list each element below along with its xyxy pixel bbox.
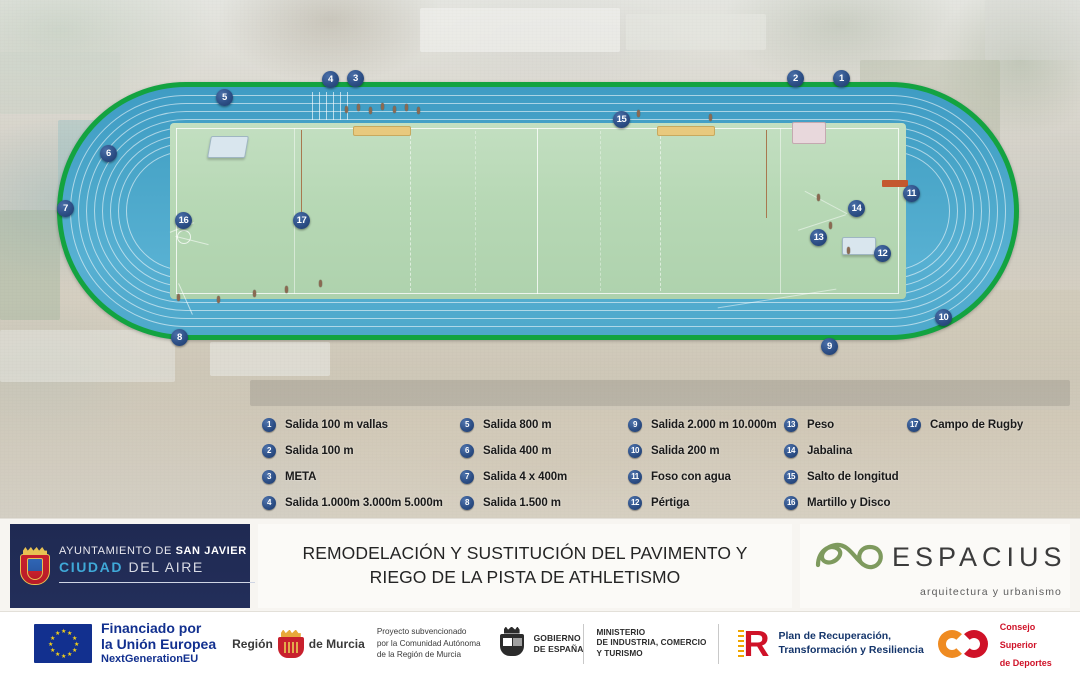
- legend-badge-8: 8: [460, 496, 474, 510]
- eu-flag-icon: ★ ★ ★ ★ ★ ★ ★ ★ ★ ★ ★ ★: [34, 624, 92, 663]
- legend-badge-7: 7: [460, 470, 474, 484]
- legend-badge-5: 5: [460, 418, 474, 432]
- legend-label-10: Salida 200 m: [651, 445, 719, 457]
- legend-item-17[interactable]: 17Campo de Rugby: [907, 412, 1023, 438]
- legend-badge-3: 3: [262, 470, 276, 484]
- legend-label-5: Salida 800 m: [483, 419, 551, 431]
- prtr-line-2: Transformación y Resiliencia: [778, 644, 923, 656]
- legend-column-3: 9Salida 2.000 m 10.000m10Salida 200 m11F…: [628, 412, 777, 516]
- aerial-photo-background: 1234567891011121314151617 1Salida 100 m …: [0, 0, 1080, 518]
- gobierno-espana-logo: GOBIERNO DE ESPAÑA: [495, 627, 584, 661]
- poster-root: 1234567891011121314151617 1Salida 100 m …: [0, 0, 1080, 675]
- photo-building: [985, 0, 1080, 60]
- murcia-shield-icon: [278, 630, 304, 658]
- map-marker-1[interactable]: 1: [833, 70, 850, 87]
- legend-badge-11: 11: [628, 470, 642, 484]
- subsidy-line-3: de la Región de Murcia: [377, 649, 481, 661]
- legend-label-4: Salida 1.000m 3.000m 5.000m: [285, 497, 443, 509]
- map-marker-2[interactable]: 2: [787, 70, 804, 87]
- athletics-track: [57, 82, 1019, 340]
- photo-building: [420, 8, 620, 52]
- equipment-mat-pole-vault: [792, 122, 826, 144]
- eu-line-3: NextGenerationEU: [101, 653, 216, 666]
- legend-label-17: Campo de Rugby: [930, 419, 1023, 431]
- legend-badge-4: 4: [262, 496, 276, 510]
- legend-item-4[interactable]: 4Salida 1.000m 3.000m 5.000m: [262, 490, 443, 516]
- legend-item-6[interactable]: 6Salida 400 m: [460, 438, 567, 464]
- ayuntamiento-line2: CIUDAD DEL AIRE: [59, 559, 269, 576]
- legend-badge-14: 14: [784, 444, 798, 458]
- equipment-long-jump-pit-2: [657, 126, 715, 136]
- rugby-pitch-infield: [170, 123, 906, 299]
- photo-road: [250, 380, 1070, 406]
- espacius-name: ESPACIUS: [892, 542, 1067, 573]
- legend-label-12: Pértiga: [651, 497, 689, 509]
- espacius-mark-icon: [814, 535, 888, 581]
- ayuntamiento-line1: AYUNTAMIENTO DE SAN JAVIER: [59, 545, 269, 558]
- subsidy-line-1: Proyecto subvencionado: [377, 626, 481, 638]
- legend-badge-12: 12: [628, 496, 642, 510]
- legend-badge-2: 2: [262, 444, 276, 458]
- legend-item-16[interactable]: 16Martillo y Disco: [784, 490, 899, 516]
- map-marker-11[interactable]: 11: [903, 185, 920, 202]
- legend-item-5[interactable]: 5Salida 800 m: [460, 412, 567, 438]
- photo-building: [210, 342, 330, 376]
- eu-funding-text: Financiado por la Unión Europea NextGene…: [101, 621, 216, 665]
- csd-mark-icon: [938, 624, 996, 664]
- legend-label-14: Jabalina: [807, 445, 852, 457]
- legend-label-2: Salida 100 m: [285, 445, 353, 457]
- legend-badge-9: 9: [628, 418, 642, 432]
- photo-building: [626, 14, 766, 50]
- legend-badge-1: 1: [262, 418, 276, 432]
- murcia-suffix: de Murcia: [309, 637, 365, 651]
- equipment-water-jump: [882, 180, 908, 187]
- ministerio-line-3: Y TURISMO: [596, 649, 706, 660]
- legend-label-6: Salida 400 m: [483, 445, 551, 457]
- legend-label-8: Salida 1.500 m: [483, 497, 561, 509]
- legend-item-9[interactable]: 9Salida 2.000 m 10.000m: [628, 412, 777, 438]
- equipment-mat-west: [207, 136, 249, 158]
- map-marker-8[interactable]: 8: [171, 329, 188, 346]
- gobierno-line-2: DE ESPAÑA: [534, 644, 584, 654]
- legend-item-7[interactable]: 7Salida 4 x 400m: [460, 464, 567, 490]
- gobierno-text: GOBIERNO DE ESPAÑA: [534, 633, 584, 654]
- legend-label-7: Salida 4 x 400m: [483, 471, 567, 483]
- subsidy-text: Proyecto subvencionado por la Comunidad …: [377, 626, 481, 661]
- legend-label-13: Peso: [807, 419, 834, 431]
- espacius-tagline: arquitectura y urbanismo: [814, 586, 1062, 598]
- gobierno-line-1: GOBIERNO: [534, 633, 581, 643]
- legend-badge-15: 15: [784, 470, 798, 484]
- ministerio-line-2: DE INDUSTRIA, COMERCIO: [596, 638, 706, 649]
- eu-line-1: Financiado por: [101, 620, 201, 636]
- prtr-logo: R Plan de Recuperación, Transformación y…: [733, 625, 923, 663]
- plane-icon: ✈: [59, 579, 269, 587]
- espacius-logo: ESPACIUS arquitectura y urbanismo: [800, 524, 1070, 608]
- project-title-line-1: REMODELACIÓN Y SUSTITUCIÓN DEL PAVIMENTO…: [302, 542, 747, 566]
- legend-item-11[interactable]: 11Foso con agua: [628, 464, 777, 490]
- legend-label-16: Martillo y Disco: [807, 497, 890, 509]
- spain-crest-icon: [495, 627, 529, 661]
- map-marker-16[interactable]: 16: [175, 212, 192, 229]
- map-marker-6[interactable]: 6: [100, 145, 117, 162]
- csd-line-2: Superior: [1000, 640, 1037, 650]
- funding-bar: ★ ★ ★ ★ ★ ★ ★ ★ ★ ★ ★ ★ Financiado por l…: [0, 612, 1080, 675]
- legend-badge-6: 6: [460, 444, 474, 458]
- region-murcia-logo: Región de Murcia: [232, 630, 365, 658]
- csd-logo: Consejo Superior de Deportes: [938, 617, 1052, 671]
- legend: 1Salida 100 m vallas2Salida 100 m3META4S…: [262, 412, 1072, 516]
- map-marker-7[interactable]: 7: [57, 200, 74, 217]
- equipment-long-jump-pit-1: [353, 126, 411, 136]
- title-bar: AYUNTAMIENTO DE SAN JAVIER CIUDAD DEL AI…: [0, 518, 1080, 612]
- legend-label-11: Foso con agua: [651, 471, 731, 483]
- murcia-prefix: Región: [232, 637, 273, 651]
- csd-text: Consejo Superior de Deportes: [1000, 617, 1052, 671]
- legend-label-1: Salida 100 m vallas: [285, 419, 388, 431]
- legend-column-4: 13Peso14Jabalina15Salto de longitud16Mar…: [784, 412, 899, 516]
- coat-of-arms-icon: [20, 547, 50, 585]
- legend-column-2: 5Salida 800 m6Salida 400 m7Salida 4 x 40…: [460, 412, 567, 516]
- ministerio-text: MINISTERIO DE INDUSTRIA, COMERCIO Y TURI…: [596, 628, 706, 660]
- legend-column-5: 17Campo de Rugby: [907, 412, 1023, 438]
- map-marker-4[interactable]: 4: [322, 71, 339, 88]
- legend-item-13[interactable]: 13Peso: [784, 412, 899, 438]
- legend-item-15[interactable]: 15Salto de longitud: [784, 464, 899, 490]
- ministerio-line-1: MINISTERIO: [596, 628, 706, 639]
- map-marker-13[interactable]: 13: [810, 229, 827, 246]
- legend-label-9: Salida 2.000 m 10.000m: [651, 419, 777, 431]
- legend-column-1: 1Salida 100 m vallas2Salida 100 m3META4S…: [262, 412, 443, 516]
- legend-item-12[interactable]: 12Pértiga: [628, 490, 777, 516]
- legend-badge-16: 16: [784, 496, 798, 510]
- csd-line-1: Consejo: [1000, 622, 1036, 632]
- eu-line-2: la Unión Europea: [101, 636, 216, 652]
- legend-item-10[interactable]: 10Salida 200 m: [628, 438, 777, 464]
- divider: [718, 624, 719, 664]
- legend-item-1[interactable]: 1Salida 100 m vallas: [262, 412, 443, 438]
- legend-label-15: Salto de longitud: [807, 471, 899, 483]
- legend-item-3[interactable]: 3META: [262, 464, 443, 490]
- map-marker-5[interactable]: 5: [216, 89, 233, 106]
- ayuntamiento-logo: AYUNTAMIENTO DE SAN JAVIER CIUDAD DEL AI…: [10, 524, 250, 608]
- divider: [583, 624, 584, 664]
- csd-line-3: de Deportes: [1000, 658, 1052, 668]
- legend-item-2[interactable]: 2Salida 100 m: [262, 438, 443, 464]
- map-marker-9[interactable]: 9: [821, 338, 838, 355]
- legend-badge-10: 10: [628, 444, 642, 458]
- legend-item-14[interactable]: 14Jabalina: [784, 438, 899, 464]
- prtr-line-1: Plan de Recuperación,: [778, 630, 891, 642]
- legend-badge-17: 17: [907, 418, 921, 432]
- prtr-text: Plan de Recuperación, Transformación y R…: [778, 630, 923, 656]
- subsidy-line-2: por la Comunidad Autónoma: [377, 638, 481, 650]
- map-marker-17[interactable]: 17: [293, 212, 310, 229]
- project-title-line-2: RIEGO DE LA PISTA DE ATHLETISMO: [370, 566, 681, 590]
- prtr-mark-icon: R: [733, 625, 773, 663]
- map-marker-12[interactable]: 12: [874, 245, 891, 262]
- legend-badge-13: 13: [784, 418, 798, 432]
- map-marker-10[interactable]: 10: [935, 309, 952, 326]
- legend-item-8[interactable]: 8Salida 1.500 m: [460, 490, 567, 516]
- photo-terrain: [0, 210, 60, 320]
- legend-label-3: META: [285, 471, 316, 483]
- map-marker-14[interactable]: 14: [848, 200, 865, 217]
- map-marker-15[interactable]: 15: [613, 111, 630, 128]
- project-title: REMODELACIÓN Y SUSTITUCIÓN DEL PAVIMENTO…: [258, 524, 792, 608]
- map-marker-3[interactable]: 3: [347, 70, 364, 87]
